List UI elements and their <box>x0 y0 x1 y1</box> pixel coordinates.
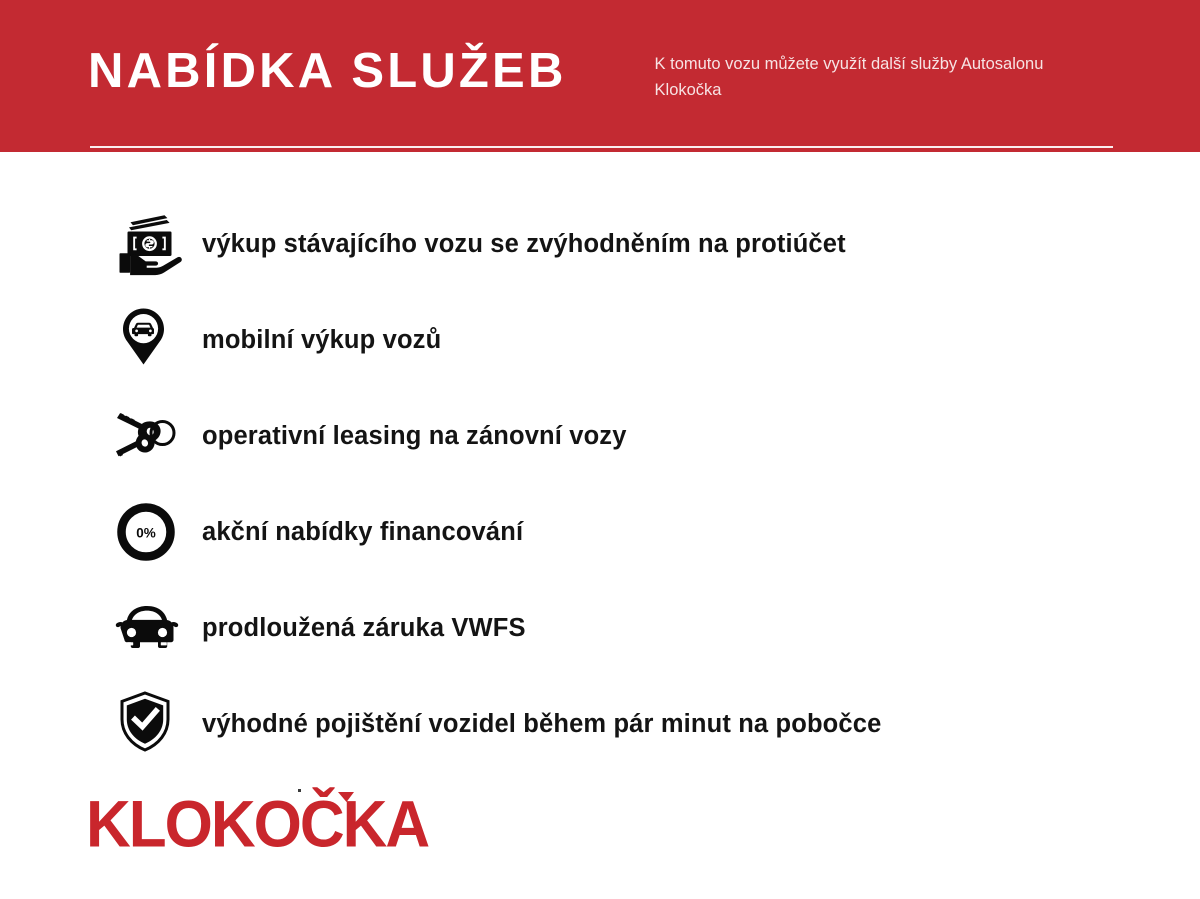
list-item-label: výkup stávajícího vozu se zvýhodněním na… <box>202 229 846 260</box>
list-item: 0% akční nabídky financování <box>0 484 1200 580</box>
list-item: mobilní výkup vozů <box>0 292 1200 388</box>
header-content: NABÍDKA SLUŽEB K tomuto vozu můžete využ… <box>88 44 1120 103</box>
list-item: operativní leasing na zánovní vozy <box>0 388 1200 484</box>
page-title: NABÍDKA SLUŽEB <box>88 44 567 97</box>
svg-text:KLOKOČKA: KLOKOČKA <box>86 786 429 858</box>
header-banner: NABÍDKA SLUŽEB K tomuto vozu můžete využ… <box>0 0 1200 152</box>
list-item: prodloužená záruka VWFS <box>0 580 1200 676</box>
list-item-label: prodloužená záruka VWFS <box>202 613 526 644</box>
list-item-label: výhodné pojištění vozidel během pár minu… <box>202 709 881 740</box>
header-subtitle: K tomuto vozu můžete využít další služby… <box>655 44 1075 103</box>
shield-check-icon <box>114 686 190 762</box>
header-divider <box>90 146 1113 148</box>
svg-text:0%: 0% <box>136 526 156 541</box>
cash-in-hand-icon <box>114 206 190 282</box>
zero-percent-circle-icon: 0% <box>114 494 190 570</box>
list-item: výkup stávajícího vozu se zvýhodněním na… <box>0 196 1200 292</box>
map-pin-car-icon <box>114 302 190 378</box>
services-list: výkup stávajícího vozu se zvýhodněním na… <box>0 196 1200 772</box>
slide-root: NABÍDKA SLUŽEB K tomuto vozu můžete využ… <box>0 0 1200 899</box>
list-item: výhodné pojištění vozidel během pár minu… <box>0 676 1200 772</box>
list-item-label: akční nabídky financování <box>202 517 523 548</box>
car-front-icon <box>114 590 190 666</box>
list-item-label: operativní leasing na zánovní vozy <box>202 421 627 452</box>
car-keys-icon <box>114 398 190 474</box>
klokocka-logo: KLOKOČKA <box>86 786 486 858</box>
list-item-label: mobilní výkup vozů <box>202 325 441 356</box>
